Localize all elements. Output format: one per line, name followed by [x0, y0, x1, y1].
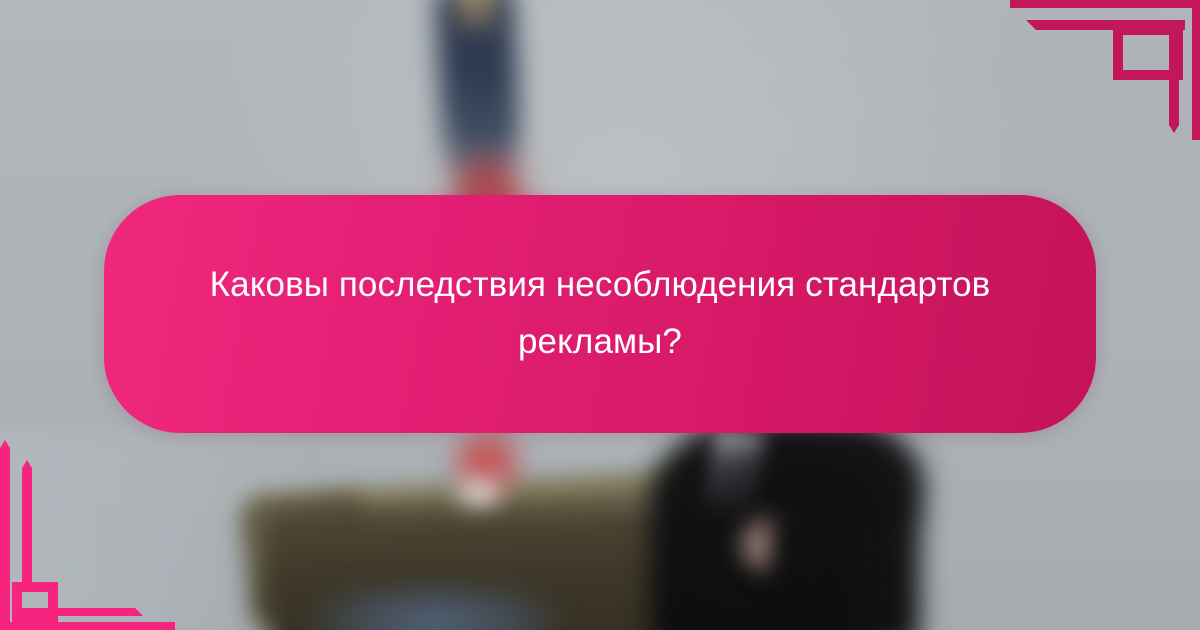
white-highlight-shape	[448, 470, 510, 516]
speaker-arm	[770, 500, 850, 630]
banner-title: Каковы последствия несоблюдения стандарт…	[104, 257, 1096, 370]
banner-canvas: Каковы последствия несоблюдения стандарт…	[0, 0, 1200, 630]
question-banner: Каковы последствия несоблюдения стандарт…	[104, 195, 1096, 433]
flag-finial-shape	[455, 0, 497, 36]
foreground-blue-shape	[300, 588, 570, 630]
